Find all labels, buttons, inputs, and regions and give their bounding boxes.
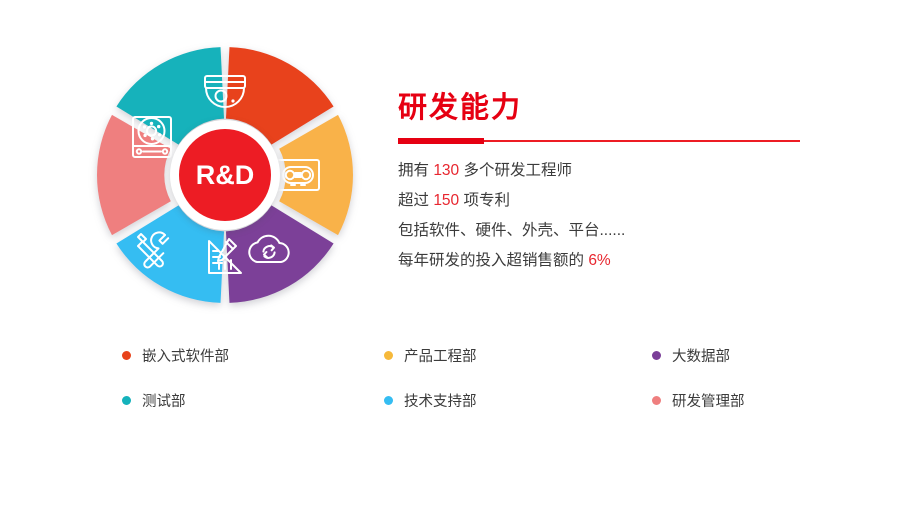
- legend-dot-icon: [652, 351, 661, 360]
- legend-item-technical-support[interactable]: 技术支持部: [384, 378, 652, 423]
- department-legend: 嵌入式软件部 产品工程部 大数据部 测试部 技术支持部 研发管理部: [122, 333, 822, 423]
- fact-line: 包括软件、硬件、外壳、平台......: [398, 216, 818, 246]
- fact-text-before: 每年研发的投入超销售额的: [398, 252, 588, 269]
- legend-label: 嵌入式软件部: [142, 345, 229, 366]
- legend-label: 测试部: [142, 390, 186, 411]
- legend-dot-icon: [122, 396, 131, 405]
- page-title: 研发能力: [398, 92, 818, 125]
- title-underline-thick: [398, 138, 484, 144]
- legend-item-big-data[interactable]: 大数据部: [652, 333, 822, 378]
- fact-line: 每年研发的投入超销售额的 6%: [398, 246, 818, 276]
- legend-dot-icon: [652, 396, 661, 405]
- legend-item-product-engineering[interactable]: 产品工程部: [384, 333, 652, 378]
- fact-highlight: 6%: [588, 252, 610, 269]
- fact-highlight: 130: [433, 162, 459, 179]
- title-underline: [398, 137, 800, 145]
- legend-label: 研发管理部: [672, 390, 745, 411]
- fact-line: 拥有 130 多个研发工程师: [398, 156, 818, 186]
- capability-fact-list: 拥有 130 多个研发工程师 超过 150 项专利 包括软件、硬件、外壳、平台.…: [398, 156, 818, 276]
- rd-capability-wheel: R&D: [95, 45, 355, 305]
- legend-label: 技术支持部: [404, 390, 477, 411]
- capability-text-panel: 研发能力 拥有 130 多个研发工程师 超过 150 项专利 包括软件、硬件、外…: [398, 92, 818, 276]
- wheel-hub-circle: R&D: [179, 129, 271, 221]
- fact-text-before: 超过: [398, 192, 433, 209]
- legend-dot-icon: [384, 396, 393, 405]
- wheel-hub-label: R&D: [196, 162, 255, 189]
- fact-line: 超过 150 项专利: [398, 186, 818, 216]
- legend-label: 产品工程部: [404, 345, 477, 366]
- fact-text-before: 拥有: [398, 162, 433, 179]
- fact-highlight: 150: [433, 192, 459, 209]
- legend-dot-icon: [122, 351, 131, 360]
- legend-item-rd-management[interactable]: 研发管理部: [652, 378, 822, 423]
- legend-dot-icon: [384, 351, 393, 360]
- legend-item-testing[interactable]: 测试部: [122, 378, 384, 423]
- fact-text-after: 多个研发工程师: [459, 162, 572, 179]
- fact-text-after: 项专利: [459, 192, 510, 209]
- fact-text-before: 包括软件、硬件、外壳、平台......: [398, 222, 625, 239]
- legend-item-embedded-software[interactable]: 嵌入式软件部: [122, 333, 384, 378]
- legend-label: 大数据部: [672, 345, 730, 366]
- wheel-hub: R&D: [170, 120, 280, 230]
